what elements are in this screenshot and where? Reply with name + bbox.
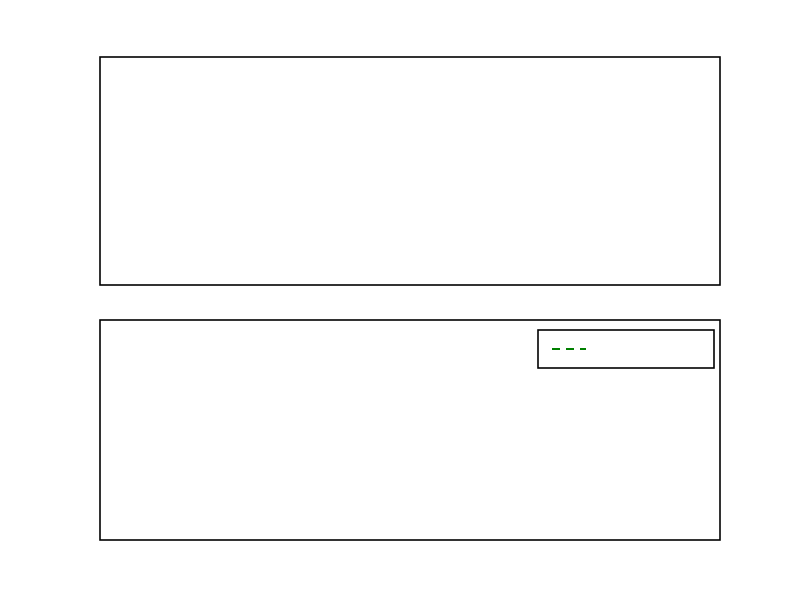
figure-canvas <box>0 0 800 600</box>
legend-frame <box>538 330 714 368</box>
matplotlib-figure <box>0 0 800 600</box>
legend[interactable] <box>538 330 714 368</box>
figure-background <box>0 0 800 600</box>
